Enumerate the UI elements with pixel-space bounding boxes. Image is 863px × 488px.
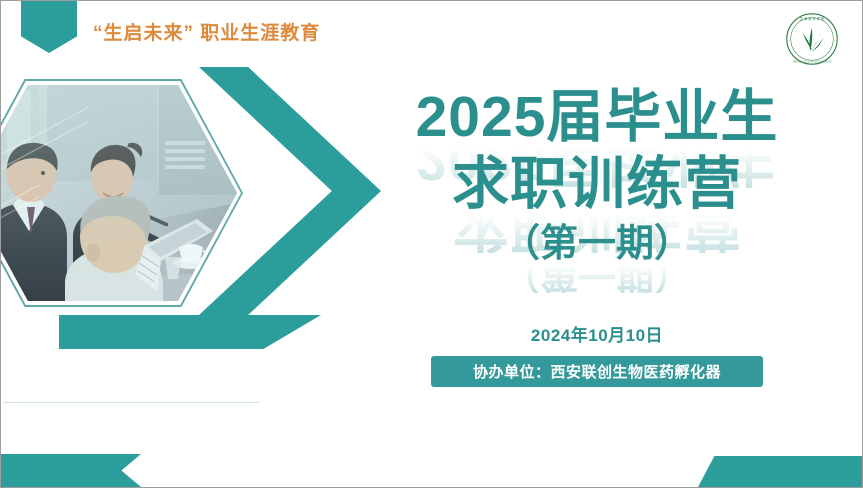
divider-line xyxy=(3,402,259,403)
title-line-1: 2025届毕业生 2025届毕业生 xyxy=(397,89,797,146)
title-line-3-text: （第一期） xyxy=(502,223,692,265)
sponsor-text: 协办单位：西安联创生物医药孵化器 xyxy=(473,361,721,382)
title-line-3: （第一期） （第一期） xyxy=(397,225,797,263)
title-line-3-reflection: （第一期） xyxy=(397,263,797,293)
chevron-arm-shape xyxy=(59,315,321,349)
title-line-1-text: 2025届毕业生 xyxy=(416,85,779,149)
event-date: 2024年10月10日 xyxy=(397,321,797,346)
svg-text:生 命 科 学 学 院: 生 命 科 学 学 院 xyxy=(800,16,825,21)
svg-text:THE COLLEGE OF LIFE SCIENCES: THE COLLEGE OF LIFE SCIENCES xyxy=(792,61,832,64)
presentation-slide: “生启未来” 职业生涯教育 生 命 科 学 学 院 THE COLLEGE OF… xyxy=(0,0,863,488)
header-tagline: “生启未来” 职业生涯教育 xyxy=(93,18,320,45)
sponsor-bar: 协办单位：西安联创生物医药孵化器 xyxy=(431,356,763,387)
school-emblem-logo: 生 命 科 学 学 院 THE COLLEGE OF LIFE SCIENCES xyxy=(784,11,840,67)
bottom-right-banner xyxy=(698,456,862,487)
title-line-2-text: 求职训练营 xyxy=(452,152,742,216)
bottom-left-banner xyxy=(1,454,141,487)
title-block: 2025届毕业生 2025届毕业生 求职训练营 求职训练营 （第一期） （第一期… xyxy=(397,89,797,263)
title-line-2: 求职训练营 求职训练营 xyxy=(397,156,797,213)
pentagon-tab-icon xyxy=(21,1,77,53)
